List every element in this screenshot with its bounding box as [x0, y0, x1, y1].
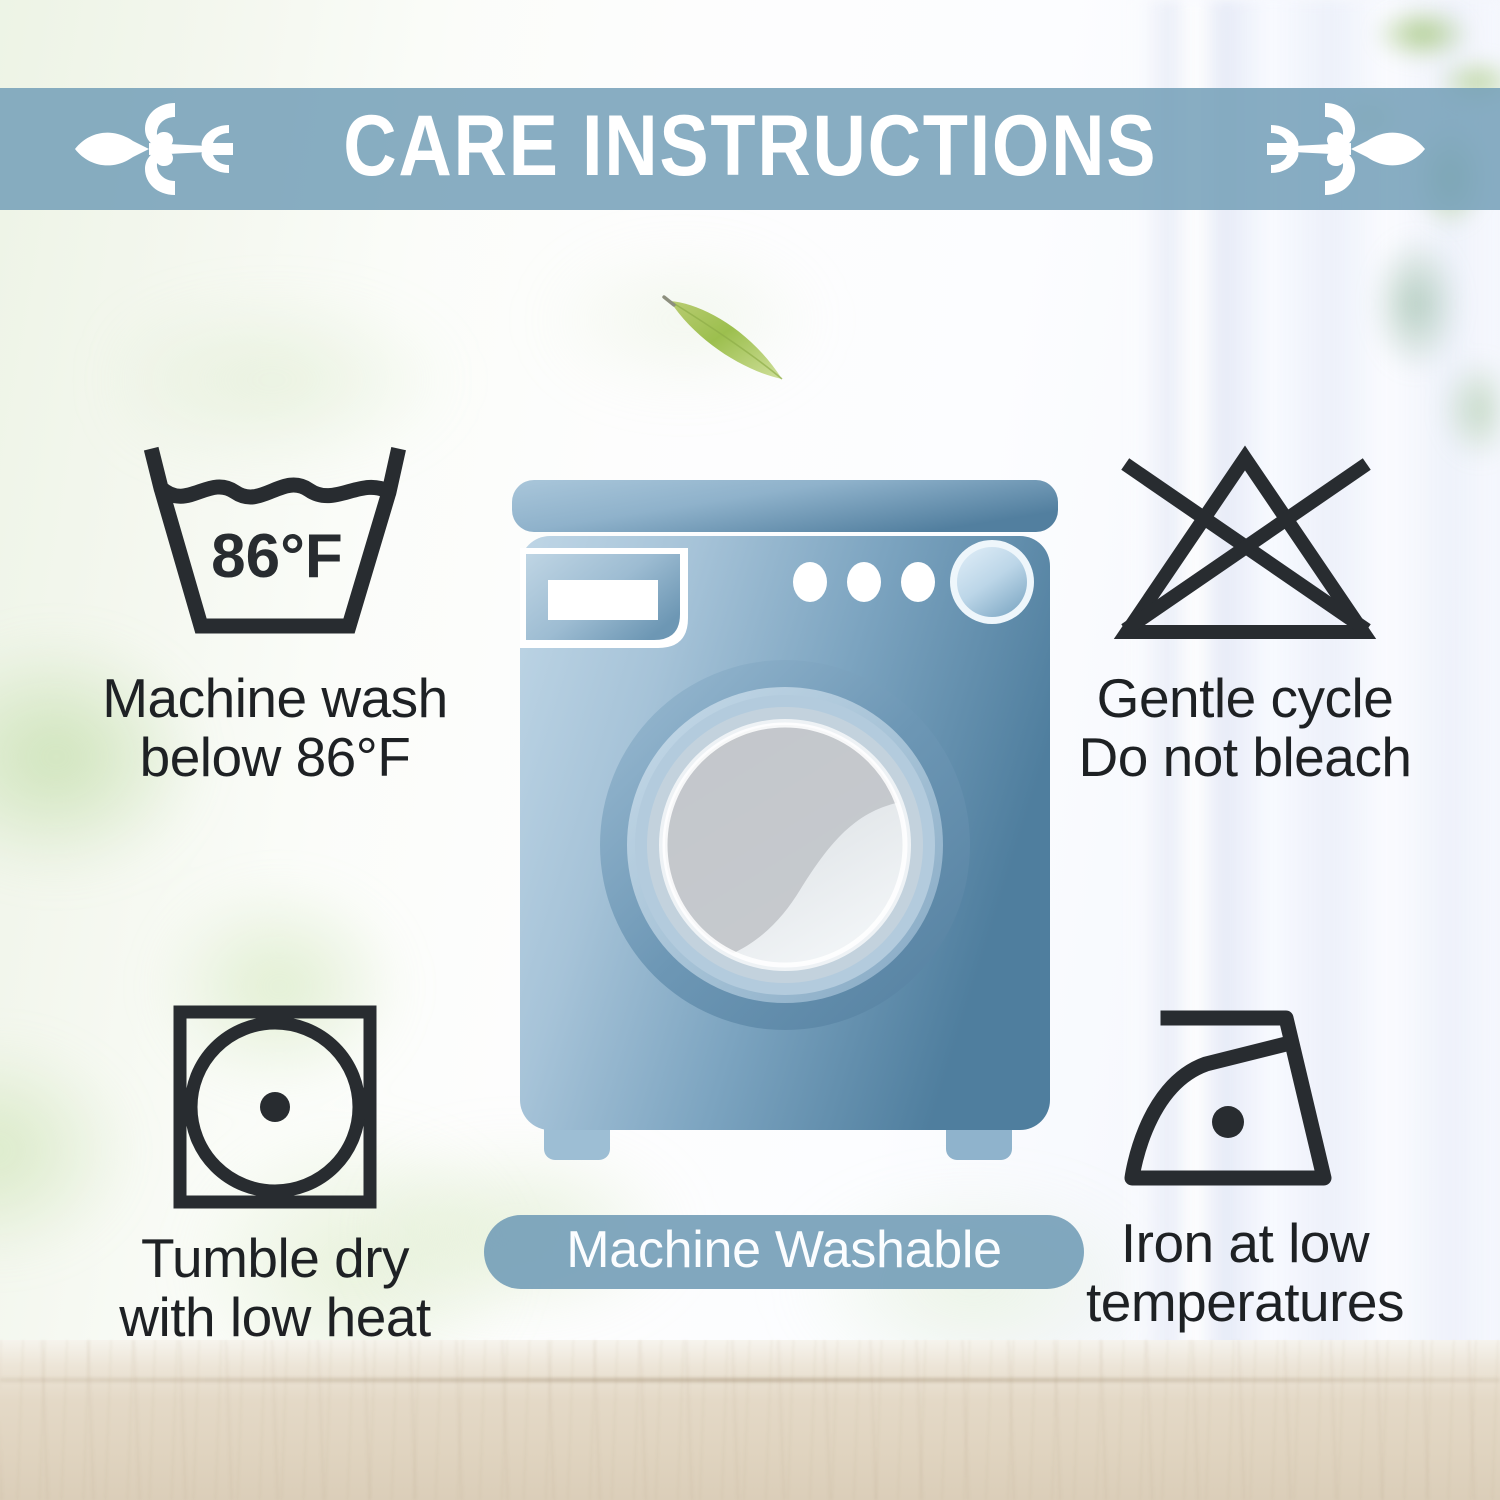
- care-instructions-infographic: CARE INSTRUCTIONS: [0, 0, 1500, 1500]
- iron-icon: [1110, 1000, 1380, 1200]
- banner-title: CARE INSTRUCTIONS: [343, 103, 1157, 195]
- machine-washable-badge: Machine Washable: [484, 1215, 1084, 1289]
- wash-tub-icon: 86°F: [125, 440, 425, 655]
- symbol-label-machine-wash: Machine wash below 86°F: [40, 669, 510, 788]
- crossed-triangle-icon: [1095, 440, 1395, 655]
- fleur-de-lis-ornament-icon: [1263, 97, 1433, 201]
- washing-machine-illustration: [500, 470, 1070, 1190]
- header-banner: CARE INSTRUCTIONS: [0, 88, 1500, 210]
- wash-temperature-value: 86°F: [211, 522, 343, 591]
- symbol-tumble-dry: Tumble dry with low heat: [40, 1000, 510, 1348]
- wood-surface-grain: [0, 1340, 1500, 1500]
- symbol-iron-low: Iron at low temperatures: [1010, 1000, 1480, 1333]
- symbol-label-do-not-bleach: Gentle cycle Do not bleach: [1010, 669, 1480, 788]
- symbol-do-not-bleach: Gentle cycle Do not bleach: [1010, 440, 1480, 788]
- symbol-label-tumble-dry: Tumble dry with low heat: [40, 1229, 510, 1348]
- fleur-de-lis-ornament-icon: [67, 97, 237, 201]
- leaf-icon: [660, 283, 810, 393]
- wood-surface-edge: [0, 1378, 1500, 1382]
- tumble-dry-square-icon: [165, 1000, 385, 1215]
- symbol-machine-wash: 86°F Machine wash below 86°F: [40, 440, 510, 788]
- symbol-label-iron-low: Iron at low temperatures: [1010, 1214, 1480, 1333]
- machine-washable-badge-label: Machine Washable: [566, 1224, 1002, 1280]
